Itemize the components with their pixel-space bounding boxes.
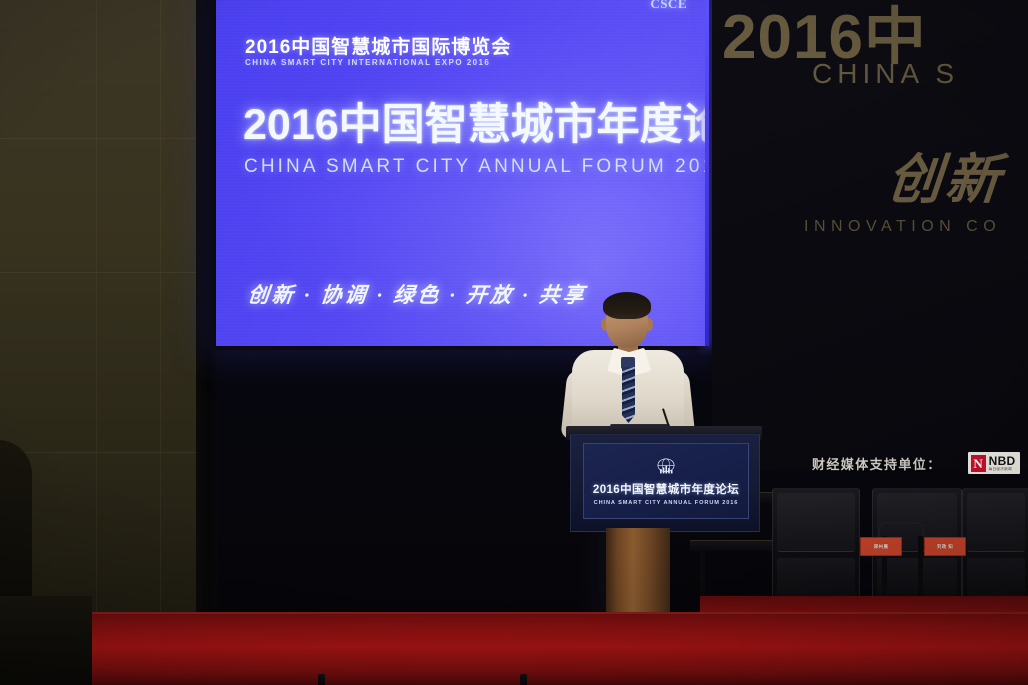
podium-branding-panel: 2016中国智慧城市年度论坛 CHINA SMART CITY ANNUAL F… [583, 443, 749, 519]
backdrop-subtitle-en: INNOVATION CO [804, 218, 1001, 236]
stage-armchair-right [962, 488, 1028, 602]
name-card-stand-right [918, 536, 923, 600]
stage-floor-red-carpet [0, 612, 1028, 685]
screen-expo-title-en: CHINA SMART CITY INTERNATIONAL EXPO 2016 [245, 58, 490, 67]
backdrop-title-en: CHINA S [812, 58, 959, 90]
screen-slogan-calligraphy: 创新 · 协调 · 绿色 · 开放 · 共享 [246, 279, 588, 309]
footlight-fixture [318, 674, 325, 685]
stage-armchair-left [772, 488, 860, 602]
sponsor-label: 财经媒体支持单位： [812, 454, 942, 473]
podium-body: 2016中国智慧城市年度论坛 CHINA SMART CITY ANNUAL F… [570, 434, 760, 532]
stage-floor-edge [0, 612, 1028, 614]
screen-forum-title-cn: 2016中国智慧城市年度论坛 [243, 90, 705, 152]
footlight-fixture [520, 674, 527, 685]
nbd-mark-letter: N [971, 455, 986, 472]
screen-forum-title-en: CHINA SMART CITY ANNUAL FORUM 2016 [244, 156, 705, 178]
nbd-logo-icon: N NBD 每日经济新闻 [968, 452, 1020, 474]
podium-title-cn: 2016中国智慧城市年度论坛 [593, 481, 739, 497]
left-wall-pillar [0, 0, 196, 640]
media-sponsor-strip: 财经媒体支持单位： N NBD 每日经济新闻 [812, 452, 1020, 474]
name-card: 郑州展 [860, 537, 902, 556]
floor-left-shadow [0, 596, 92, 685]
name-card: 刘政 知 [924, 537, 966, 556]
podium-title-en: CHINA SMART CITY ANNUAL FORUM 2016 [594, 500, 739, 506]
backdrop-calligraphy-cn: 创新 [885, 135, 1008, 214]
csce-emblem-icon [653, 457, 679, 479]
nbd-logo-name: NBD [989, 455, 1016, 467]
conference-stage-photo: CSCE 2016中国智慧城市国际博览会 CHINA SMART CITY IN… [0, 0, 1028, 685]
screen-csce-logo: CSCE [650, 0, 687, 12]
screen-expo-title-cn: 2016中国智慧城市国际博览会 [245, 32, 511, 59]
nbd-logo-tagline: 每日经济新闻 [989, 468, 1016, 472]
screen-right-edge-glow [705, 0, 709, 346]
